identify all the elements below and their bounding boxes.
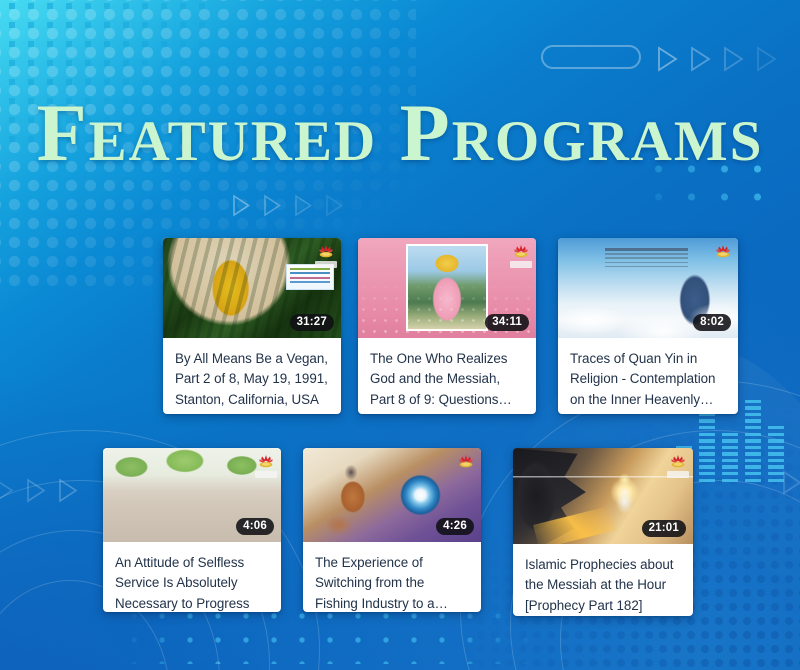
thumbnail-overlay-text [605, 245, 688, 270]
play-arrow-icon [657, 46, 679, 72]
thumbnail[interactable]: 21:01 [513, 448, 693, 544]
rounded-pill-outline [541, 45, 641, 69]
card-title: The One Who Realizes God and the Messiah… [358, 338, 536, 414]
duration-badge: 21:01 [642, 520, 686, 537]
play-arrow-icon [723, 46, 745, 72]
play-arrow-icon [263, 194, 285, 220]
thumbnail[interactable]: 34:11 [358, 238, 536, 338]
lotus-logo-icon [256, 452, 276, 472]
program-card[interactable]: 4:26 The Experience of Switching from th… [303, 448, 481, 612]
duration-badge: 34:11 [485, 314, 529, 331]
play-arrow-icon [26, 478, 48, 504]
arrow-row-left [0, 478, 80, 504]
thumbnail-light-flare [533, 506, 616, 544]
duration-badge: 31:27 [290, 314, 334, 331]
duration-badge: 4:26 [436, 518, 474, 535]
lotus-logo-icon [713, 242, 733, 262]
card-title: Islamic Prophecies about the Messiah at … [513, 544, 693, 616]
thumbnail[interactable]: 4:06 [103, 448, 281, 542]
arrow-right-edge [782, 470, 800, 496]
play-arrow-icon [0, 478, 16, 504]
card-title: The Experience of Switching from the Fis… [303, 542, 481, 612]
program-card[interactable]: 21:01 Islamic Prophecies about the Messi… [513, 448, 693, 616]
thumbnail[interactable]: 31:27 [163, 238, 341, 338]
lotus-logo-icon [316, 242, 336, 262]
arrow-row-under-title [232, 194, 347, 220]
card-title: An Attitude of Selfless Service Is Absol… [103, 542, 281, 612]
thumbnail-rock-shape [513, 448, 596, 544]
play-arrow-icon [782, 470, 800, 496]
thumbnail[interactable]: 8:02 [558, 238, 738, 338]
lotus-logo-icon [456, 452, 476, 472]
card-title: Traces of Quan Yin in Religion - Contemp… [558, 338, 738, 414]
play-arrow-icon [294, 194, 316, 220]
play-arrow-icon [756, 46, 778, 72]
logo-subtitle-bar [315, 261, 337, 268]
program-card[interactable]: 31:27 By All Means Be a Vegan, Part 2 of… [163, 238, 341, 414]
card-title: By All Means Be a Vegan, Part 2 of 8, Ma… [163, 338, 341, 414]
duration-badge: 8:02 [693, 314, 731, 331]
arrow-row-top-right [657, 46, 778, 72]
lotus-logo-icon [668, 452, 688, 472]
play-arrow-icon [325, 194, 347, 220]
thumbnail[interactable]: 4:26 [303, 448, 481, 542]
thumbnail-inset-photo [406, 244, 488, 331]
featured-programs-banner: Featured Programs 31:27 By [0, 0, 800, 670]
logo-subtitle-bar [255, 471, 277, 478]
lotus-logo-icon [511, 242, 531, 262]
program-card[interactable]: 4:06 An Attitude of Selfless Service Is … [103, 448, 281, 612]
play-arrow-icon [58, 478, 80, 504]
program-card[interactable]: 8:02 Traces of Quan Yin in Religion - Co… [558, 238, 738, 414]
page-title: Featured Programs [0, 92, 800, 174]
logo-subtitle-bar [667, 471, 689, 478]
duration-badge: 4:06 [236, 518, 274, 535]
play-arrow-icon [232, 194, 254, 220]
program-card[interactable]: 34:11 The One Who Realizes God and the M… [358, 238, 536, 414]
play-arrow-icon [690, 46, 712, 72]
logo-subtitle-bar [510, 261, 532, 268]
